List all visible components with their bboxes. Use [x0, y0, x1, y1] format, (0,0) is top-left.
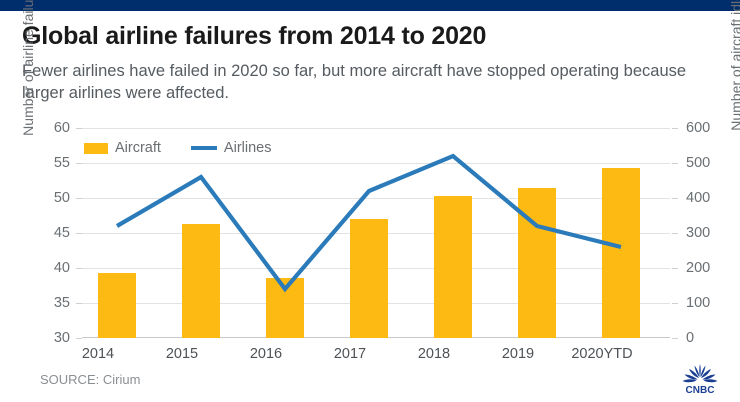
- line-swatch-icon: [191, 146, 217, 150]
- page-subtitle: Fewer airlines have failed in 2020 so fa…: [22, 60, 692, 104]
- chart-page: Global airline failures from 2014 to 202…: [0, 0, 740, 402]
- right-axis-tick: 600: [686, 121, 726, 136]
- right-axis-title: Number of aircraft idled: [728, 0, 740, 148]
- x-axis-label-2019: 2019: [473, 346, 563, 362]
- bar-swatch-icon: [84, 143, 108, 154]
- right-tick-mark: [672, 268, 678, 269]
- right-axis-tick: 100: [686, 296, 726, 311]
- left-axis-tick: 40: [36, 261, 70, 276]
- right-tick-mark: [672, 338, 678, 339]
- right-axis-tick: 200: [686, 261, 726, 276]
- legend-label-aircraft: Aircraft: [115, 140, 161, 156]
- chart-legend: Aircraft Airlines: [84, 140, 271, 156]
- page-title: Global airline failures from 2014 to 202…: [22, 22, 486, 51]
- cnbc-logo: CNBC: [672, 362, 728, 396]
- right-axis-tick: 400: [686, 191, 726, 206]
- left-axis-tick: 60: [36, 121, 70, 136]
- cnbc-wordmark: CNBC: [686, 385, 715, 396]
- right-axis-tick: 500: [686, 156, 726, 171]
- legend-item-airlines[interactable]: Airlines: [191, 140, 272, 156]
- right-axis-tick: 300: [686, 226, 726, 241]
- x-axis-label-2017: 2017: [305, 346, 395, 362]
- left-axis-tick: 30: [36, 331, 70, 346]
- x-axis-label-2016: 2016: [221, 346, 311, 362]
- left-axis-tick: 50: [36, 191, 70, 206]
- right-tick-mark: [672, 233, 678, 234]
- x-axis-label-2020ytd: 2020YTD: [557, 346, 647, 362]
- x-axis-label-2018: 2018: [389, 346, 479, 362]
- right-tick-mark: [672, 128, 678, 129]
- left-axis-tick: 35: [36, 296, 70, 311]
- x-axis-label-2015: 2015: [137, 346, 227, 362]
- legend-item-aircraft[interactable]: Aircraft: [84, 140, 161, 156]
- left-axis-title: Number of airline failures: [20, 0, 36, 148]
- right-tick-mark: [672, 303, 678, 304]
- x-axis-label-2014: 2014: [53, 346, 143, 362]
- cnbc-peacock-icon: CNBC: [672, 362, 728, 396]
- right-tick-mark: [672, 163, 678, 164]
- legend-label-airlines: Airlines: [224, 140, 272, 156]
- plot-area: [82, 128, 670, 338]
- left-tick-mark: [76, 338, 82, 339]
- brand-top-bar: [0, 0, 740, 11]
- airlines-line-series: [82, 128, 670, 338]
- right-axis-tick: 0: [686, 331, 726, 346]
- right-tick-mark: [672, 198, 678, 199]
- left-axis-tick: 45: [36, 226, 70, 241]
- source-note: SOURCE: Cirium: [40, 372, 140, 387]
- left-axis-tick: 55: [36, 156, 70, 171]
- airlines-line-path[interactable]: [117, 156, 621, 289]
